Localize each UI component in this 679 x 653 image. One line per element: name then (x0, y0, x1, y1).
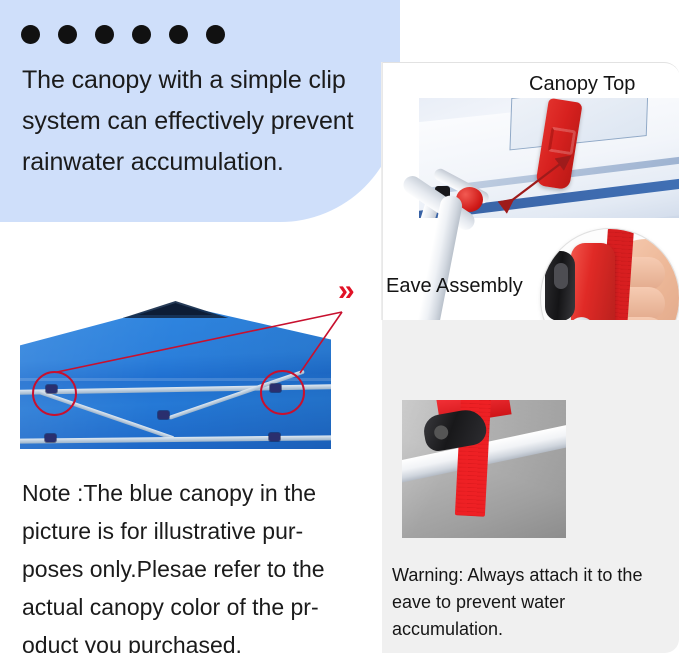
bullet-dots-row (21, 25, 225, 44)
bullet-dot-icon (206, 25, 225, 44)
bullet-dot-icon (21, 25, 40, 44)
bullet-dot-icon (58, 25, 77, 44)
canopy-top-label: Canopy Top (529, 73, 635, 96)
clip-connector (269, 433, 280, 441)
clip-connector (158, 411, 169, 419)
blue-canopy-photo (20, 301, 331, 449)
infographic-page: The canopy with a simple clip system can… (0, 0, 679, 653)
eave-attachment-photo (402, 400, 566, 538)
headline-text: The canopy with a simple clip system can… (22, 60, 388, 183)
bullet-dot-icon (169, 25, 188, 44)
headline-bubble: The canopy with a simple clip system can… (0, 0, 400, 222)
chevron-right-icon: » (338, 276, 351, 306)
clip-connector (45, 434, 56, 442)
eave-assembly-label: Eave Assembly (386, 275, 523, 298)
highlight-circle-right (260, 370, 305, 415)
highlight-circle-left (32, 371, 77, 416)
bullet-dot-icon (95, 25, 114, 44)
warning-text: Warning: Always attach it to the eave to… (392, 562, 672, 643)
note-text: Note :The blue canopy in the picture is … (22, 474, 352, 653)
bullet-dot-icon (132, 25, 151, 44)
black-clip-button (554, 263, 568, 289)
